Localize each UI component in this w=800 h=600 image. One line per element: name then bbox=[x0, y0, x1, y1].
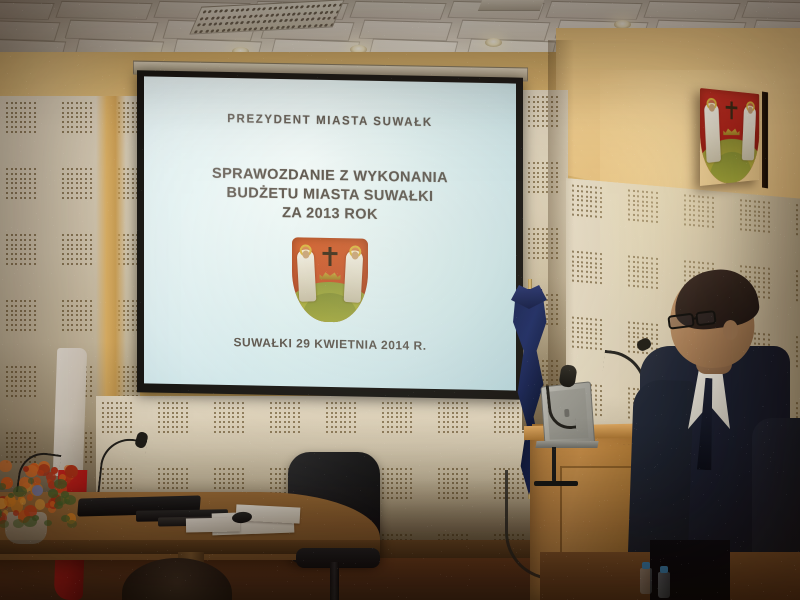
slide-title: PREZYDENT MIASTA SUWAŁK bbox=[227, 113, 432, 130]
bottle-cap bbox=[660, 566, 668, 573]
laptop-base bbox=[535, 441, 598, 448]
suwalki-coat-of-arms-icon bbox=[292, 237, 368, 322]
conference-room-photo: PREZYDENT MIASTA SUWAŁK SPRAWOZDANIE Z W… bbox=[0, 0, 800, 600]
suwalki-coat-of-arms-wall-plaque bbox=[700, 88, 759, 186]
slide-heading-line-1: SPRAWOZDANIE Z WYKONANIA bbox=[212, 165, 448, 189]
slide-surface: PREZYDENT MIASTA SUWAŁK SPRAWOZDANIE Z W… bbox=[144, 76, 516, 390]
plaque-side-edge bbox=[762, 92, 768, 189]
water-bottle bbox=[640, 568, 652, 594]
bottle-cap bbox=[642, 562, 650, 569]
slide-heading: SPRAWOZDANIE Z WYKONANIA BUDŻETU MIASTA … bbox=[212, 165, 448, 227]
slide-heading-line-2: BUDŻETU MIASTA SUWAŁKI bbox=[212, 184, 448, 208]
office-chair-post bbox=[330, 562, 339, 600]
water-bottle bbox=[658, 572, 670, 598]
slide-heading-line-3: ZA 2013 ROK bbox=[212, 203, 448, 227]
slide-date: SUWAŁKI 29 KWIETNIA 2014 R. bbox=[144, 333, 516, 354]
floor bbox=[0, 558, 580, 600]
flower-bouquet bbox=[0, 455, 76, 525]
projection-screen: PREZYDENT MIASTA SUWAŁK SPRAWOZDANIE Z W… bbox=[137, 70, 523, 399]
